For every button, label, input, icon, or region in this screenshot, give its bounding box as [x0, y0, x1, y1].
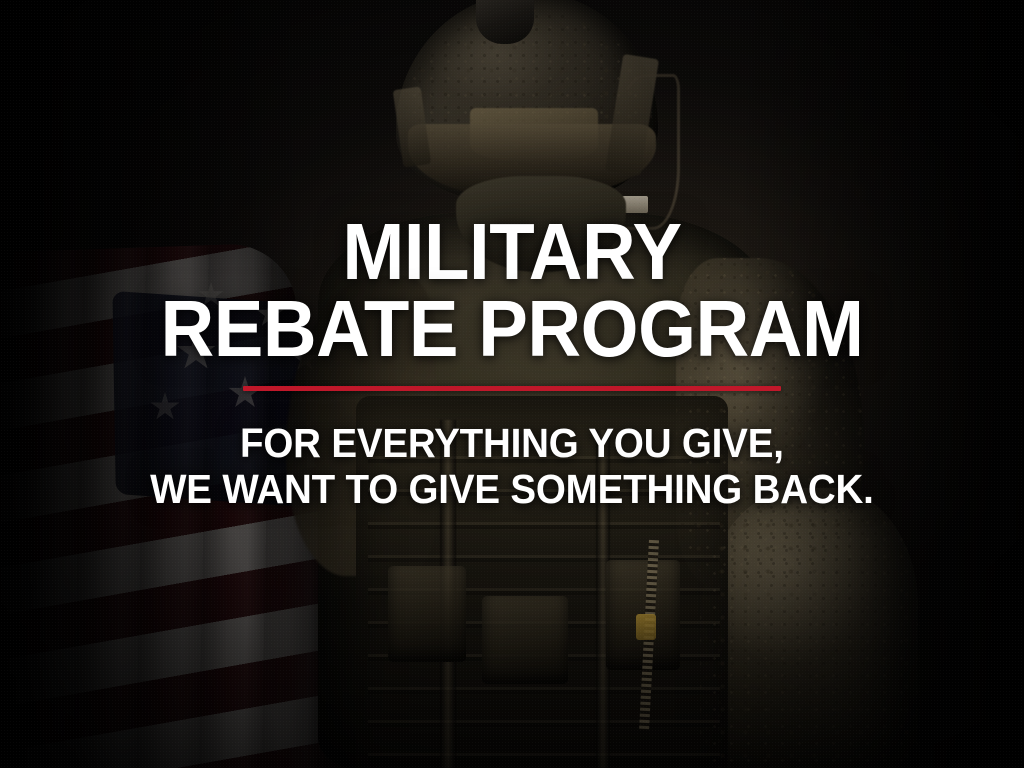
- poster-canvas: MILITARY REBATE PROGRAM FOR EVERYTHING Y…: [0, 0, 1024, 768]
- headline-line-1: MILITARY: [160, 214, 863, 291]
- subheadline-line-2: WE WANT TO GIVE SOMETHING BACK.: [150, 467, 874, 513]
- poster-headline: MILITARY REBATE PROGRAM: [160, 214, 863, 368]
- poster-text-overlay: MILITARY REBATE PROGRAM FOR EVERYTHING Y…: [0, 0, 1024, 768]
- subheadline-line-1: FOR EVERYTHING YOU GIVE,: [150, 421, 874, 467]
- headline-line-2: REBATE PROGRAM: [160, 291, 863, 368]
- poster-subheadline: FOR EVERYTHING YOU GIVE, WE WANT TO GIVE…: [150, 421, 874, 513]
- red-divider-rule: [243, 386, 781, 391]
